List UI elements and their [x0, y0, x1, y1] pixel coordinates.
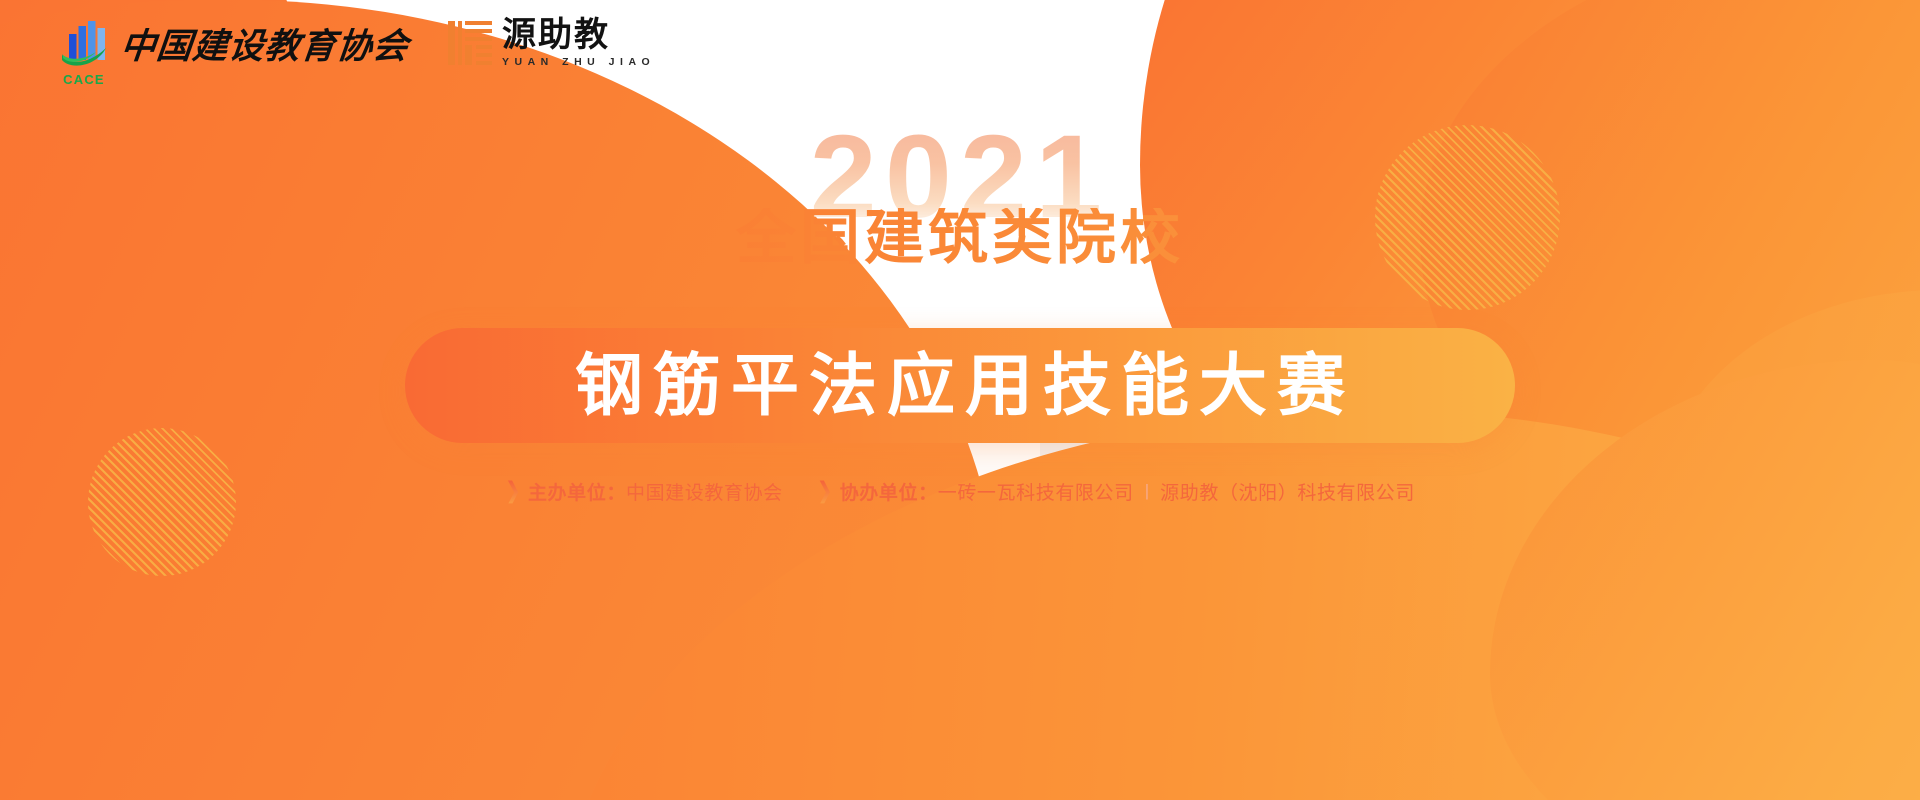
building-tall: [1650, 320, 1790, 800]
cloud-band: [1250, 505, 1770, 527]
building: [966, 525, 1046, 800]
window-light: [1340, 544, 1349, 550]
window-light: [902, 585, 909, 590]
cloud-band: [980, 585, 1680, 615]
orange-shape-right-edge: [1660, 290, 1920, 720]
chevron-right-icon: ❯: [505, 480, 521, 504]
building: [498, 510, 576, 800]
association-name: 中国建设教育协会: [118, 18, 411, 69]
host-label: 主办单位：: [528, 478, 626, 505]
building: [1565, 535, 1657, 800]
building: [672, 625, 758, 800]
yuanzhujiao-logo-icon: [447, 20, 493, 66]
building: [1455, 405, 1575, 800]
window-light: [1100, 595, 1108, 600]
window-light: [1690, 374, 1698, 380]
window-light: [1748, 324, 1756, 330]
host-value: 中国建设教育协会: [626, 478, 783, 505]
cace-logo-icon: CACE: [56, 14, 112, 72]
logo-row: CACE 中国建设教育协会 源助教 YUAN: [56, 14, 655, 72]
chevron-right-icon: ❯: [817, 480, 833, 504]
association-logo[interactable]: CACE 中国建设教育协会: [56, 14, 409, 72]
building: [410, 585, 505, 800]
organizer-host: ❯ 主办单位： 中国建设教育协会: [505, 478, 783, 505]
competition-banner: CACE 中国建设教育协会 源助教 YUAN: [0, 0, 1920, 800]
cace-abbr-text: CACE: [56, 72, 112, 87]
sponsor-name-en: YUAN ZHU JIAO: [502, 56, 655, 68]
main-title-pill: 钢筋平法应用技能大赛: [405, 328, 1515, 443]
window-light: [1070, 635, 1078, 640]
coorg-value-2: 源助教（沈阳）科技有限公司: [1160, 478, 1415, 505]
window-light: [1860, 544, 1869, 550]
building: [1782, 470, 1920, 800]
window-light: [930, 625, 937, 630]
coorg-value-1: 一砖一瓦科技有限公司: [938, 478, 1134, 505]
window-light: [1884, 584, 1893, 590]
organizer-separator: |: [1145, 481, 1149, 501]
window-light: [1390, 444, 1399, 450]
window-light: [1722, 274, 1730, 280]
window-light: [1096, 527, 1104, 532]
window-light: [880, 555, 887, 560]
building: [852, 470, 972, 800]
sponsor-name-cn: 源助教: [502, 18, 655, 52]
sponsor-logo[interactable]: 源助教 YUAN ZHU JIAO: [447, 18, 655, 68]
orange-wedge-bottom-right: [1490, 360, 1920, 800]
building: [760, 550, 860, 800]
orange-blob-top-right-secondary: [1420, 0, 1920, 560]
building: [1250, 560, 1320, 800]
banner-subtitle: 全国建筑类院校: [0, 208, 1920, 268]
orange-wave-bottom-right: [560, 410, 1920, 800]
organizer-coorganizer: ❯ 协办单位： 一砖一瓦科技有限公司 | 源助教（沈阳）科技有限公司: [817, 478, 1415, 505]
organizer-line: ❯ 主办单位： 中国建设教育协会 ❯ 协办单位： 一砖一瓦科技有限公司 | 源助…: [0, 478, 1920, 505]
building: [570, 565, 680, 800]
coorg-label: 协办单位：: [840, 478, 938, 505]
main-title-text: 钢筋平法应用技能大赛: [565, 352, 1355, 420]
orange-blob-left: [0, 0, 330, 650]
window-light: [1062, 559, 1070, 564]
cloud-band: [640, 640, 1260, 664]
building: [300, 650, 420, 800]
